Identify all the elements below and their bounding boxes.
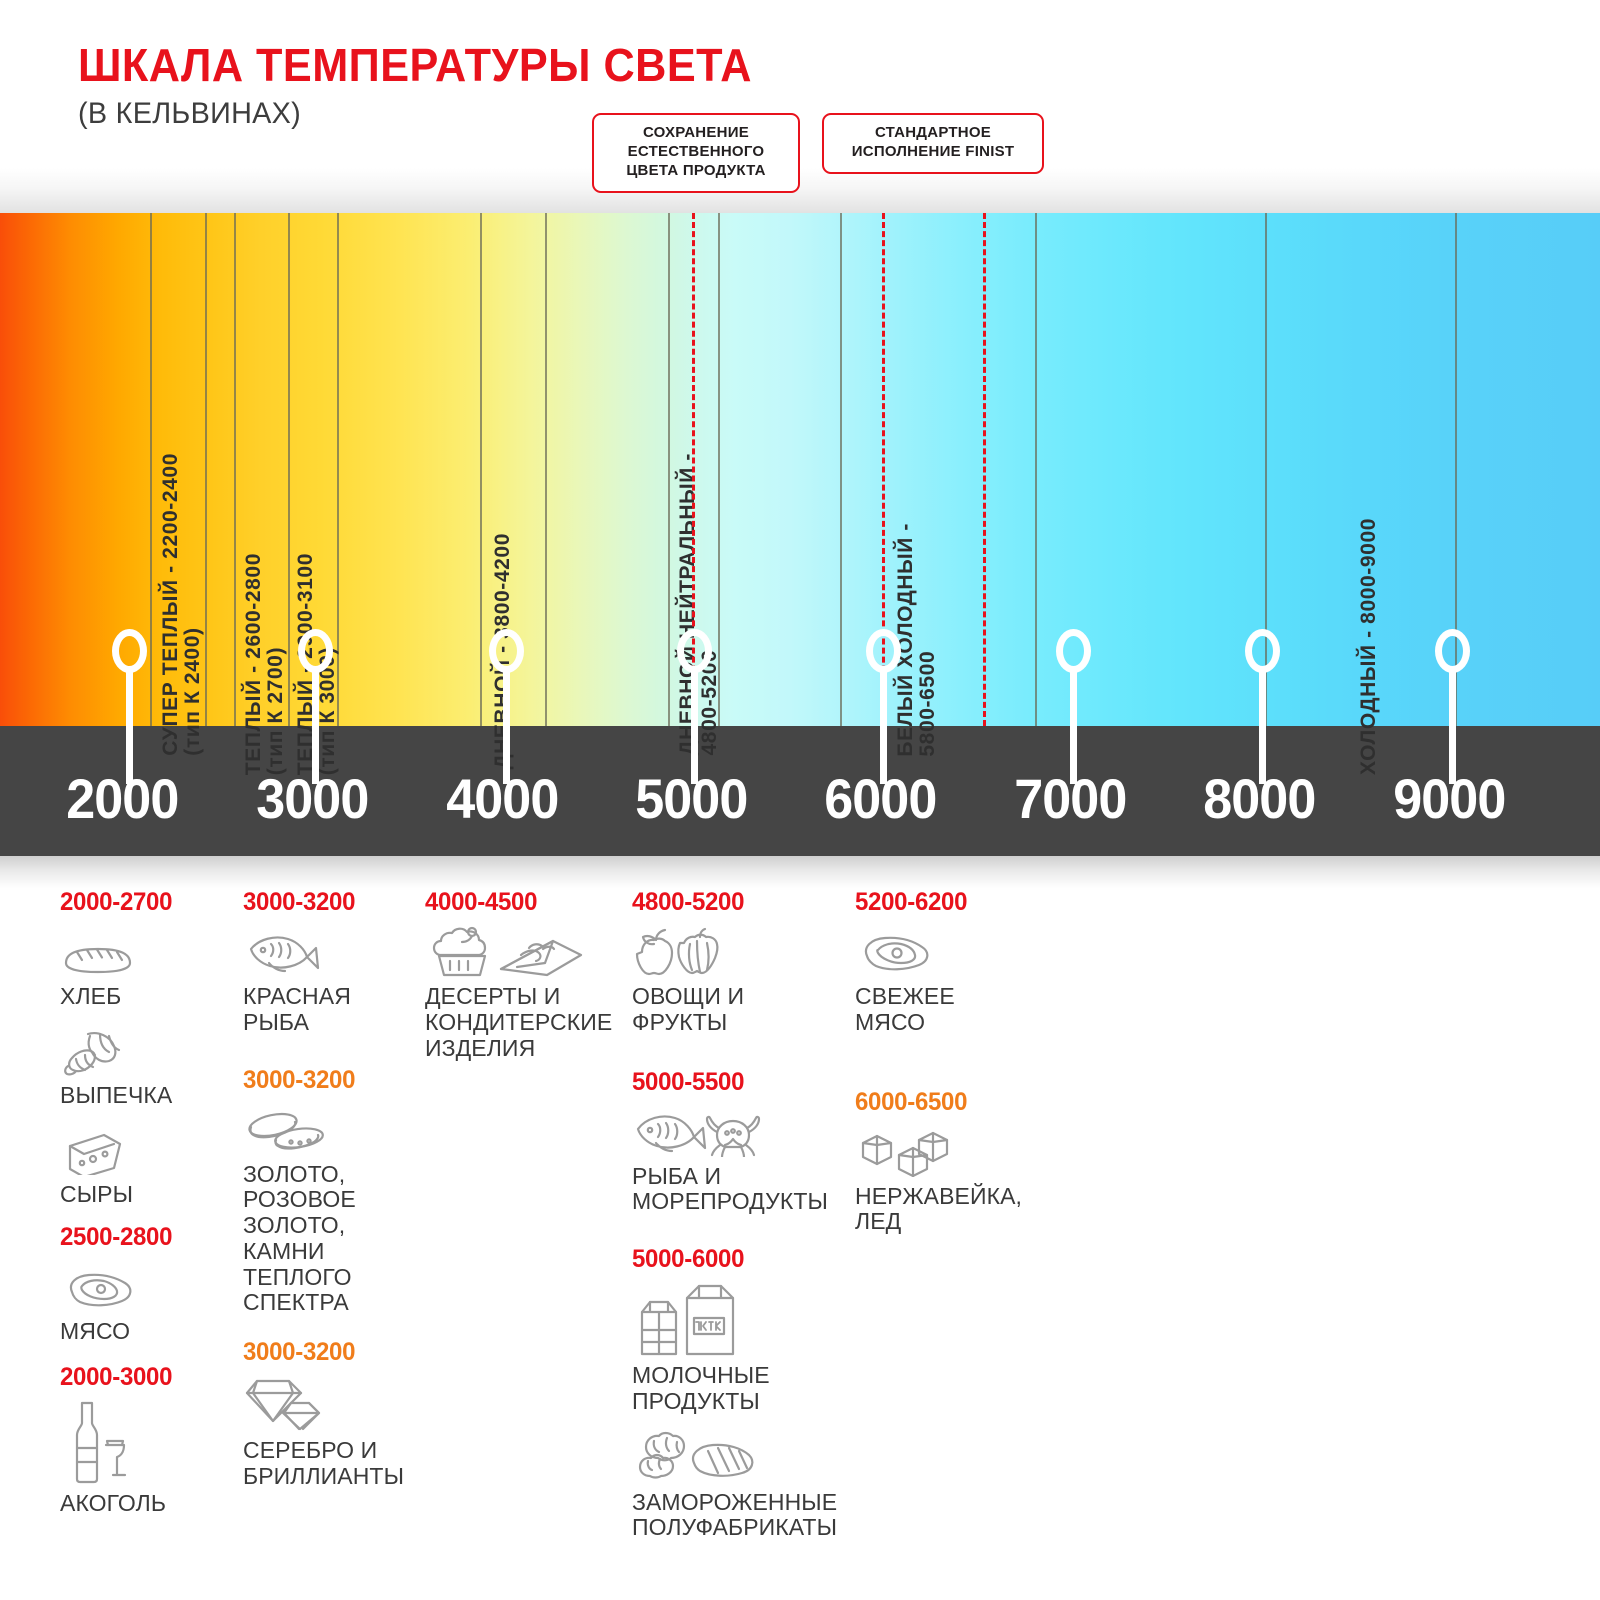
dashed-line-finist-end bbox=[983, 213, 986, 726]
band-label-white-cold: БЕЛЫЙ ХОЛОДНЫЙ - 5800-6500 bbox=[895, 523, 939, 757]
band-sub: 4800-5200 bbox=[699, 453, 721, 755]
segment-divider bbox=[234, 213, 236, 726]
legend-item-label: МОЛОЧНЫЕ ПРОДУКТЫ bbox=[632, 1363, 847, 1415]
legend-item-label: ЗАМОРОЖЕННЫЕ ПОЛУФАБРИКАТЫ bbox=[632, 1490, 847, 1542]
legend-group: 3000-3200 КРАСНАЯ РЫБА bbox=[243, 888, 428, 1036]
segment-divider bbox=[205, 213, 207, 726]
band-label-warm-2700: ТЕПЛЫЙ - 2600-2800 (тип К 2700) bbox=[243, 553, 287, 775]
marker-stem bbox=[880, 669, 887, 784]
legend-item-steel-ice: НЕРЖАВЕЙКА, ЛЕД bbox=[855, 1125, 1030, 1236]
scale-marker-8000 bbox=[1245, 629, 1280, 673]
legend-item-label: НЕРЖАВЕЙКА, ЛЕД bbox=[855, 1184, 1030, 1236]
legend-range: 4800-5200 bbox=[632, 888, 838, 917]
band-sub: (тип К 2400) bbox=[182, 453, 204, 756]
legend-item-label: ХЛЕБ bbox=[60, 984, 235, 1010]
legend-range: 3000-3200 bbox=[243, 1338, 421, 1367]
legend-item-label: РЫБА И МОРЕПРОДУКТЫ bbox=[632, 1164, 847, 1216]
segment-divider bbox=[480, 213, 482, 726]
legend-item-gold: ЗОЛОТО, РОЗОВОЕ ЗОЛОТО, КАМНИ ТЕПЛОГО СП… bbox=[243, 1103, 428, 1317]
scale-marker-3000 bbox=[298, 629, 333, 673]
marker-ring bbox=[1056, 629, 1091, 673]
legend-range: 2000-2700 bbox=[60, 888, 228, 917]
segment-divider bbox=[668, 213, 670, 726]
legend-item-label: СЫРЫ bbox=[60, 1182, 235, 1208]
scale-marker-5000 bbox=[677, 629, 712, 673]
bottom-shadow bbox=[0, 856, 1600, 888]
scale-marker-2000 bbox=[112, 629, 147, 673]
band-name: СУПЕР ТЕПЛЫЙ - 2200-2400 bbox=[160, 453, 182, 756]
legend-item-label: СВЕЖЕЕ МЯСО bbox=[855, 984, 1030, 1036]
band-sub: (тип К 2700) bbox=[265, 553, 287, 775]
legend-column-3: 4000-4500 ДЕС bbox=[425, 888, 620, 1075]
band-label-cold: ХОЛОДНЫЙ - 8000-9000 bbox=[1358, 518, 1380, 775]
legend-item-frozen: ЗАМОРОЖЕННЫЕ ПОЛУФАБРИКАТЫ bbox=[632, 1429, 847, 1542]
legend-item-pastry: ВЫПЕЧКА bbox=[60, 1024, 235, 1109]
alcohol-icon bbox=[60, 1400, 235, 1484]
legend-range: 4000-4500 bbox=[425, 888, 612, 917]
legend-range: 2500-2800 bbox=[60, 1223, 228, 1252]
legend-item-label: АКОГОЛЬ bbox=[60, 1491, 235, 1517]
croissant-icon bbox=[60, 1024, 235, 1076]
page-subtitle: (В КЕЛЬВИНАХ) bbox=[78, 97, 301, 131]
legend-item-label: КРАСНАЯ РЫБА bbox=[243, 984, 428, 1036]
legend-group: 6000-6500 НЕРЖАВЕЙКА, ЛЕД bbox=[855, 1088, 1030, 1236]
band-label-daylight-neutral: ДНЕВНОЙ НЕЙТРАЛЬНЫЙ - 4800-5200 bbox=[677, 453, 721, 755]
marker-ring bbox=[112, 629, 147, 673]
scale-marker-7000 bbox=[1056, 629, 1091, 673]
ice-icon bbox=[855, 1125, 1030, 1177]
marker-stem bbox=[312, 669, 319, 784]
segment-divider bbox=[288, 213, 290, 726]
legend-range: 3000-3200 bbox=[243, 1066, 421, 1095]
marker-ring bbox=[677, 629, 712, 673]
legend-group: 5200-6200 СВЕЖЕЕ МЯСО bbox=[855, 888, 1030, 1036]
legend-column-2: 3000-3200 КРАСНАЯ РЫБА 300 bbox=[243, 888, 428, 1504]
band-name: ХОЛОДНЫЙ - 8000-9000 bbox=[1358, 518, 1380, 775]
segment-divider bbox=[840, 213, 842, 726]
marker-stem bbox=[1070, 669, 1077, 784]
legend-item-label: ВЫПЕЧКА bbox=[60, 1083, 235, 1109]
bread-icon bbox=[60, 925, 235, 977]
band-sub: 5800-6500 bbox=[917, 523, 939, 757]
dessert-icon bbox=[425, 925, 620, 977]
legend-item-dairy: МОЛОЧНЫЕ ПРОДУКТЫ bbox=[632, 1282, 847, 1415]
legend-group: 2000-2700 ХЛЕБ bbox=[60, 888, 235, 1207]
marker-stem bbox=[503, 669, 510, 784]
milk-icon bbox=[632, 1282, 847, 1356]
frozen-icon bbox=[632, 1429, 847, 1483]
marker-ring bbox=[1435, 629, 1470, 673]
legend-range: 5000-5500 bbox=[632, 1068, 838, 1097]
legend-item-fresh-meat: СВЕЖЕЕ МЯСО bbox=[855, 925, 1030, 1036]
callout-natural-color: СОХРАНЕНИЕ ЕСТЕСТВЕННОГО ЦВЕТА ПРОДУКТА bbox=[592, 113, 800, 193]
vegetables-icon bbox=[632, 925, 847, 977]
scale-tick-2000: 2000 bbox=[66, 766, 178, 831]
legend-column-5: 5200-6200 СВЕЖЕЕ МЯСО 6000-6500 bbox=[855, 888, 1030, 1249]
legend-item-label: ЗОЛОТО, РОЗОВОЕ ЗОЛОТО, КАМНИ ТЕПЛОГО СП… bbox=[243, 1162, 428, 1317]
marker-ring bbox=[866, 629, 901, 673]
page-title: ШКАЛА ТЕМПЕРАТУРЫ СВЕТА bbox=[78, 38, 752, 92]
legend-column-1: 2000-2700 ХЛЕБ bbox=[60, 888, 235, 1531]
rings-icon bbox=[243, 1103, 428, 1155]
legend-group: 5000-5500 bbox=[632, 1068, 847, 1216]
legend-group: 2500-2800 МЯСО bbox=[60, 1223, 235, 1345]
legend-item-bread: ХЛЕБ bbox=[60, 925, 235, 1010]
legend-group: 3000-3200 ЗОЛОТО, РОЗОВОЕ ЗОЛОТО, КАМНИ … bbox=[243, 1066, 428, 1317]
diamond-icon bbox=[243, 1375, 428, 1431]
infographic-page: ШКАЛА ТЕМПЕРАТУРЫ СВЕТА (В КЕЛЬВИНАХ) СО… bbox=[0, 0, 1600, 1600]
segment-divider bbox=[545, 213, 547, 726]
cheese-icon bbox=[60, 1123, 235, 1175]
legend-range: 3000-3200 bbox=[243, 888, 421, 917]
segment-divider bbox=[150, 213, 152, 726]
band-name: ТЕПЛЫЙ - 2600-2800 bbox=[243, 553, 265, 775]
legend-group: 5000-6000 МОЛОЧНЫЕ ПРОДУКТЫ bbox=[632, 1245, 847, 1541]
scale-marker-9000 bbox=[1435, 629, 1470, 673]
top-shadow bbox=[0, 168, 1600, 213]
band-label-super-warm: СУПЕР ТЕПЛЫЙ - 2200-2400 (тип К 2400) bbox=[160, 453, 204, 756]
legend-range: 5200-6200 bbox=[855, 888, 1023, 917]
legend-item-diamond: СЕРЕБРО И БРИЛЛИАНТЫ bbox=[243, 1375, 428, 1490]
seafood-icon bbox=[632, 1105, 847, 1157]
legend-group: 4800-5200 ОВОЩИ И ФРУКТЫ bbox=[632, 888, 847, 1036]
spectrum-bar: СУПЕР ТЕПЛЫЙ - 2200-2400 (тип К 2400) ТЕ… bbox=[0, 213, 1600, 726]
scale-marker-6000 bbox=[866, 629, 901, 673]
steak-icon bbox=[60, 1260, 235, 1312]
legend-group: 4000-4500 ДЕС bbox=[425, 888, 620, 1061]
legend-range: 2000-3000 bbox=[60, 1363, 228, 1392]
marker-stem bbox=[1259, 669, 1266, 784]
legend-item-alcohol: АКОГОЛЬ bbox=[60, 1400, 235, 1517]
marker-ring bbox=[1245, 629, 1280, 673]
legend-item-label: МЯСО bbox=[60, 1319, 235, 1345]
legend-item-desserts: ДЕСЕРТЫ И КОНДИТЕРСКИЕ ИЗДЕЛИЯ bbox=[425, 925, 620, 1061]
legend-range: 6000-6500 bbox=[855, 1088, 1023, 1117]
segment-divider bbox=[1035, 213, 1037, 726]
legend-item-label: ОВОЩИ И ФРУКТЫ bbox=[632, 984, 847, 1036]
fish-icon bbox=[243, 925, 428, 977]
callout-finist-standard: СТАНДАРТНОЕ ИСПОЛНЕНИЕ FINIST bbox=[822, 113, 1044, 174]
legend: 2000-2700 ХЛЕБ bbox=[0, 888, 1600, 1600]
legend-group: 2000-3000 АКОГОЛЬ bbox=[60, 1363, 235, 1517]
legend-item-vegetables: ОВОЩИ И ФРУКТЫ bbox=[632, 925, 847, 1036]
marker-stem bbox=[691, 669, 698, 784]
legend-range: 5000-6000 bbox=[632, 1245, 838, 1274]
marker-stem bbox=[126, 669, 133, 784]
legend-item-cheese: СЫРЫ bbox=[60, 1123, 235, 1208]
legend-item-label: ДЕСЕРТЫ И КОНДИТЕРСКИЕ ИЗДЕЛИЯ bbox=[425, 984, 620, 1061]
marker-stem bbox=[1449, 669, 1456, 784]
marker-ring bbox=[489, 629, 524, 673]
legend-column-4: 4800-5200 ОВОЩИ И ФРУКТЫ 5000-5500 bbox=[632, 888, 847, 1555]
legend-item-seafood: РЫБА И МОРЕПРОДУКТЫ bbox=[632, 1105, 847, 1216]
legend-item-meat: МЯСО bbox=[60, 1260, 235, 1345]
legend-group: 3000-3200 СЕРЕБРО И БРИЛЛИАНТЫ bbox=[243, 1338, 428, 1490]
fresh-meat-icon bbox=[855, 925, 1030, 977]
scale-marker-4000 bbox=[489, 629, 524, 673]
legend-item-red-fish: КРАСНАЯ РЫБА bbox=[243, 925, 428, 1036]
legend-item-label: СЕРЕБРО И БРИЛЛИАНТЫ bbox=[243, 1438, 428, 1490]
marker-ring bbox=[298, 629, 333, 673]
